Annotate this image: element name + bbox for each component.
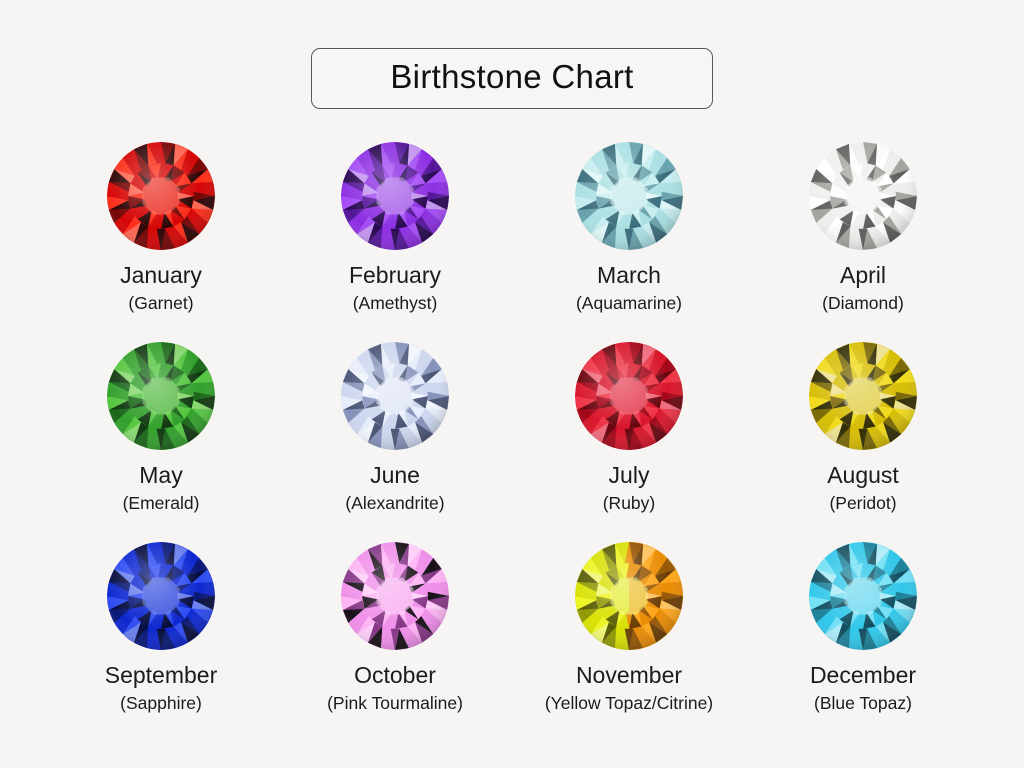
stone-label: (Garnet): [128, 293, 193, 313]
stone-label: (Emerald): [123, 493, 200, 513]
round-brilliant-gem-icon: [339, 140, 451, 252]
month-label: April: [840, 262, 886, 288]
birthstone-grid: January(Garnet)February(Amethyst)March(A…: [44, 140, 980, 740]
month-label: March: [597, 262, 661, 288]
round-brilliant-gem-icon: [339, 540, 451, 652]
birthstone-cell-may[interactable]: May(Emerald): [44, 340, 278, 540]
birthstone-cell-march[interactable]: March(Aquamarine): [512, 140, 746, 340]
month-label: May: [139, 462, 182, 488]
month-label: August: [827, 462, 899, 488]
birthstone-cell-february[interactable]: February(Amethyst): [278, 140, 512, 340]
month-label: December: [810, 662, 916, 688]
round-brilliant-gem-icon: [105, 140, 217, 252]
stone-label: (Aquamarine): [576, 293, 682, 313]
month-label: June: [370, 462, 420, 488]
birthstone-cell-april[interactable]: April(Diamond): [746, 140, 980, 340]
stone-label: (Peridot): [829, 493, 896, 513]
round-brilliant-gem-icon: [807, 140, 919, 252]
round-brilliant-gem-icon: [105, 540, 217, 652]
birthstone-cell-june[interactable]: June(Alexandrite): [278, 340, 512, 540]
round-brilliant-gem-icon: [807, 540, 919, 652]
page-title: Birthstone Chart: [356, 60, 668, 95]
month-label: November: [576, 662, 682, 688]
month-label: September: [105, 662, 218, 688]
round-brilliant-gem-icon: [573, 140, 685, 252]
birthstone-cell-november[interactable]: November(Yellow Topaz/Citrine): [512, 540, 746, 740]
round-brilliant-gem-icon: [573, 340, 685, 452]
month-label: February: [349, 262, 441, 288]
stone-label: (Ruby): [603, 493, 656, 513]
birthstone-cell-january[interactable]: January(Garnet): [44, 140, 278, 340]
stone-label: (Alexandrite): [345, 493, 444, 513]
stone-label: (Blue Topaz): [814, 693, 912, 713]
birthstone-cell-july[interactable]: July(Ruby): [512, 340, 746, 540]
round-brilliant-gem-icon: [105, 340, 217, 452]
month-label: January: [120, 262, 202, 288]
stone-label: (Yellow Topaz/Citrine): [545, 693, 713, 713]
round-brilliant-gem-split-icon: [573, 540, 685, 652]
title-banner: Birthstone Chart: [0, 48, 1024, 109]
stone-label: (Diamond): [822, 293, 904, 313]
birthstone-cell-august[interactable]: August(Peridot): [746, 340, 980, 540]
stone-label: (Pink Tourmaline): [327, 693, 463, 713]
round-brilliant-gem-icon: [807, 340, 919, 452]
stone-label: (Sapphire): [120, 693, 202, 713]
month-label: July: [609, 462, 650, 488]
month-label: October: [354, 662, 436, 688]
birthstone-cell-october[interactable]: October(Pink Tourmaline): [278, 540, 512, 740]
birthstone-cell-september[interactable]: September(Sapphire): [44, 540, 278, 740]
round-brilliant-gem-icon: [339, 340, 451, 452]
stone-label: (Amethyst): [353, 293, 438, 313]
title-box: Birthstone Chart: [311, 48, 713, 109]
birthstone-cell-december[interactable]: December(Blue Topaz): [746, 540, 980, 740]
